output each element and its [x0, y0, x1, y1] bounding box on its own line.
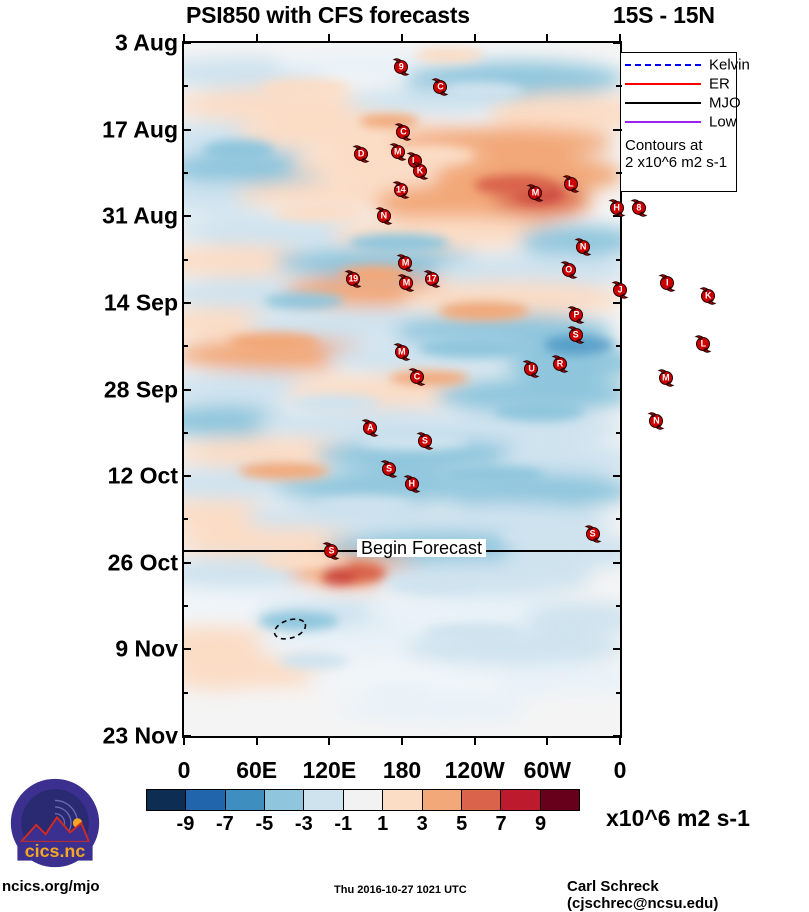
x-axis-tick-label: 0 — [614, 757, 627, 784]
storm-marker[interactable]: S — [378, 458, 399, 479]
x-axis-tick-label: 60E — [236, 757, 277, 784]
colorbar-swatch — [501, 790, 540, 810]
legend-line-kelvin — [625, 64, 701, 66]
colorbar-swatch — [147, 790, 186, 810]
page-title: PSI850 with CFS forecasts — [186, 2, 470, 29]
x-axis-top-tick — [619, 34, 621, 43]
x-axis-top-tick — [401, 34, 403, 43]
colorbar-swatch — [265, 790, 304, 810]
colorbar — [146, 789, 580, 811]
y-axis-tick — [613, 302, 622, 304]
x-axis-tick-label: 120E — [302, 757, 356, 784]
colorbar-swatch — [383, 790, 422, 810]
y-axis-minor-tick — [182, 345, 188, 347]
x-axis-top-tick — [474, 34, 476, 43]
legend-line-er — [625, 83, 701, 85]
storm-marker[interactable]: H — [606, 197, 627, 218]
storm-marker-label: R — [549, 353, 570, 374]
storm-marker[interactable]: S — [321, 540, 342, 561]
storm-marker[interactable]: C — [393, 121, 414, 142]
storm-marker[interactable]: H — [401, 474, 422, 495]
y-axis-tick — [182, 215, 191, 217]
storm-marker-label: I — [657, 272, 678, 293]
y-axis-minor-tick — [616, 692, 622, 694]
storm-marker-label: M — [391, 342, 412, 363]
y-axis-tick — [182, 302, 191, 304]
storm-marker-label: S — [321, 540, 342, 561]
storm-marker[interactable]: M — [525, 182, 546, 203]
storm-marker-label: L — [693, 333, 714, 354]
colorbar-swatch — [423, 790, 462, 810]
y-axis-tick-label: 23 Nov — [18, 723, 178, 750]
storm-marker[interactable]: L — [560, 173, 581, 194]
contour-note-line: 2 x10^6 m2 s-1 — [625, 154, 727, 171]
storm-marker-label: S — [582, 523, 603, 544]
legend-label-mjo: MJO — [709, 96, 741, 111]
storm-marker[interactable]: N — [572, 237, 593, 258]
colorbar-tick-label: -1 — [334, 813, 352, 836]
x-axis-tick — [328, 736, 330, 745]
colorbar-tick-label: -3 — [295, 813, 313, 836]
colorbar-swatch — [186, 790, 225, 810]
y-axis-tick — [182, 475, 191, 477]
y-axis-minor-tick — [182, 605, 188, 607]
y-axis-minor-tick — [616, 345, 622, 347]
colorbar-tick-label: 9 — [535, 813, 546, 836]
storm-marker-label: D — [351, 143, 372, 164]
storm-marker-label: H — [606, 197, 627, 218]
storm-marker[interactable]: M — [655, 368, 676, 389]
x-axis-tick — [619, 736, 621, 745]
storm-marker[interactable]: K — [409, 161, 430, 182]
storm-marker[interactable]: M — [396, 272, 417, 293]
colorbar-tick-label: -9 — [177, 813, 195, 836]
contour-interval-note: Contours at2 x10^6 m2 s-1 — [625, 137, 727, 171]
y-axis-minor-tick — [182, 432, 188, 434]
y-axis-tick — [613, 129, 622, 131]
y-axis-minor-tick — [616, 259, 622, 261]
colorbar-swatch — [344, 790, 383, 810]
storm-marker[interactable]: P — [566, 304, 587, 325]
colorbar-tick-label: 1 — [377, 813, 388, 836]
storm-marker[interactable]: C — [430, 76, 451, 97]
latitude-band-label: 15S - 15N — [613, 2, 715, 29]
y-axis-tick — [613, 648, 622, 650]
storm-marker-label: M — [396, 272, 417, 293]
storm-marker[interactable]: 19 — [343, 269, 364, 290]
y-axis-tick-label: 31 Aug — [18, 203, 178, 230]
storm-marker-label: C — [406, 367, 427, 388]
storm-marker-label: 9 — [391, 57, 412, 78]
colorbar-swatch — [226, 790, 265, 810]
x-axis-top-tick — [328, 34, 330, 43]
storm-marker-label: 17 — [421, 268, 442, 289]
colorbar-swatch — [462, 790, 501, 810]
colorbar-tick-label: -5 — [255, 813, 273, 836]
storm-marker[interactable]: M — [391, 342, 412, 363]
storm-marker-label: H — [401, 474, 422, 495]
legend-line-low — [625, 121, 701, 123]
x-axis-tick-label: 0 — [178, 757, 191, 784]
x-axis-tick-label: 120W — [445, 757, 505, 784]
legend-box: KelvinERMJOLowContours at2 x10^6 m2 s-1 — [620, 52, 737, 192]
x-axis-tick — [256, 736, 258, 745]
y-axis-minor-tick — [616, 172, 622, 174]
storm-marker-label: J — [610, 279, 631, 300]
y-axis-minor-tick — [182, 172, 188, 174]
storm-marker[interactable]: 17 — [421, 268, 442, 289]
x-axis-top-tick — [546, 34, 548, 43]
storm-marker-label: M — [395, 252, 416, 273]
storm-marker[interactable]: J — [610, 279, 631, 300]
storm-marker-label: N — [646, 410, 667, 431]
storm-marker[interactable]: N — [373, 206, 394, 227]
y-axis-tick — [182, 129, 191, 131]
storm-marker-label: S — [414, 430, 435, 451]
x-axis-tick — [183, 736, 185, 745]
colorbar-tick-label: 7 — [496, 813, 507, 836]
hovmoller-diagram: PSI850 with CFS forecasts 15S - 15N 3 Au… — [0, 0, 809, 907]
x-axis-tick-label: 60W — [524, 757, 571, 784]
storm-marker-label: M — [655, 368, 676, 389]
storm-marker[interactable]: K — [698, 285, 719, 306]
storm-marker[interactable]: 8 — [628, 197, 649, 218]
y-axis-tick — [613, 475, 622, 477]
logo-text: cics.nc — [25, 841, 86, 861]
storm-marker[interactable]: O — [558, 259, 579, 280]
x-axis-tick — [474, 736, 476, 745]
x-axis-tick — [401, 736, 403, 745]
contour-note-line: Contours at — [625, 137, 727, 154]
colorbar-tick-label: -7 — [216, 813, 234, 836]
storm-marker[interactable]: C — [406, 367, 427, 388]
storm-marker-label: P — [566, 304, 587, 325]
storm-marker[interactable]: I — [657, 272, 678, 293]
storm-marker-label: C — [430, 76, 451, 97]
x-axis-top-tick — [256, 34, 258, 43]
storm-marker[interactable]: S — [414, 430, 435, 451]
y-axis-tick — [182, 562, 191, 564]
colorbar-swatch — [541, 790, 579, 810]
storm-marker-label: L — [560, 173, 581, 194]
storm-marker-label: K — [698, 285, 719, 306]
y-axis-tick-label: 9 Nov — [18, 636, 178, 663]
colorbar-swatch — [304, 790, 343, 810]
colorbar-tick-label: 3 — [417, 813, 428, 836]
y-axis-tick-label: 28 Sep — [18, 376, 178, 403]
storm-marker-label: 19 — [343, 269, 364, 290]
legend-label-kelvin: Kelvin — [709, 58, 750, 73]
y-axis-minor-tick — [182, 692, 188, 694]
storm-marker-label: 8 — [628, 197, 649, 218]
y-axis-tick — [613, 562, 622, 564]
legend-label-er: ER — [709, 77, 730, 92]
y-axis-tick — [613, 389, 622, 391]
y-axis-tick-label: 17 Aug — [18, 116, 178, 143]
storm-marker[interactable]: L — [693, 333, 714, 354]
cics-nc-logo[interactable]: cics.nc — [8, 776, 102, 870]
x-axis-tick — [546, 736, 548, 745]
y-axis-tick-label: 12 Oct — [18, 463, 178, 490]
storm-marker-label: C — [393, 121, 414, 142]
storm-marker[interactable]: U — [521, 358, 542, 379]
storm-marker[interactable]: S — [582, 523, 603, 544]
colorbar-units-label: x10^6 m2 s-1 — [606, 805, 750, 832]
storm-marker-label: M — [525, 182, 546, 203]
y-axis-minor-tick — [182, 259, 188, 261]
storm-marker[interactable]: 14 — [390, 179, 411, 200]
storm-marker-label: U — [521, 358, 542, 379]
storm-marker[interactable]: D — [351, 143, 372, 164]
storm-marker-label: A — [360, 418, 381, 439]
storm-marker[interactable]: A — [360, 418, 381, 439]
legend-line-mjo — [625, 102, 701, 104]
y-axis: 3 Aug17 Aug31 Aug14 Sep28 Sep12 Oct26 Oc… — [0, 0, 178, 907]
storm-marker-label: S — [378, 458, 399, 479]
storm-marker-label: N — [572, 237, 593, 258]
site-link[interactable]: ncics.org/mjo — [2, 878, 100, 895]
storm-marker[interactable]: N — [646, 410, 667, 431]
x-axis-top-tick — [183, 34, 185, 43]
storm-marker-label: S — [565, 325, 586, 346]
storm-marker-label: N — [373, 206, 394, 227]
storm-marker-label: K — [409, 161, 430, 182]
y-axis-tick-label: 3 Aug — [18, 30, 178, 57]
x-axis-tick-label: 180 — [383, 757, 421, 784]
storm-marker[interactable]: 9 — [391, 57, 412, 78]
storm-marker[interactable]: M — [395, 252, 416, 273]
y-axis-tick — [182, 389, 191, 391]
y-axis-minor-tick — [616, 518, 622, 520]
forecast-divider-label: Begin Forecast — [357, 539, 486, 557]
storm-marker[interactable]: S — [565, 325, 586, 346]
storm-marker-label: O — [558, 259, 579, 280]
colorbar-tick-label: 5 — [456, 813, 467, 836]
y-axis-minor-tick — [616, 85, 622, 87]
y-axis-minor-tick — [182, 518, 188, 520]
y-axis-tick-label: 14 Sep — [18, 289, 178, 316]
y-axis-minor-tick — [182, 85, 188, 87]
storm-marker-label: 14 — [390, 179, 411, 200]
y-axis-tick-label: 26 Oct — [18, 549, 178, 576]
y-axis-minor-tick — [616, 432, 622, 434]
y-axis-minor-tick — [616, 605, 622, 607]
legend-label-low: Low — [709, 115, 737, 130]
storm-marker[interactable]: R — [549, 353, 570, 374]
y-axis-tick — [182, 648, 191, 650]
run-timestamp: Thu 2016-10-27 1021 UTC — [334, 884, 467, 896]
